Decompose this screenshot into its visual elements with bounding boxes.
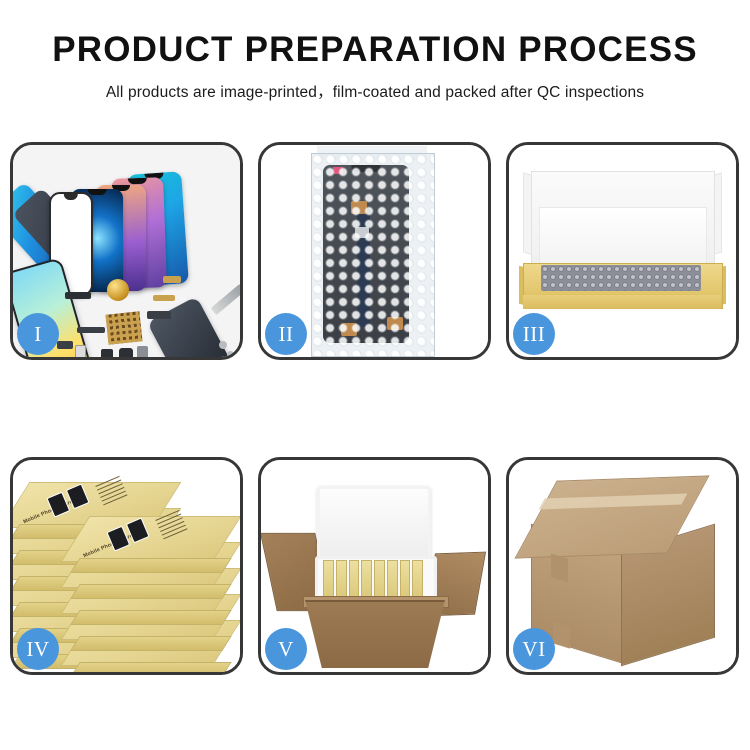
process-step-2: II [258,142,491,360]
screw-icon [219,341,227,349]
tweezers-icon [211,284,240,315]
part-icon [75,345,86,357]
qc-sticker-icon [333,167,343,174]
carton-body-icon [305,600,445,668]
screw-icon [227,351,234,357]
speaker-coil-icon [107,279,129,301]
carton-tab-icon [553,621,570,648]
page-title: PRODUCT PREPARATION PROCESS [0,32,750,69]
ic-chip-icon [355,227,369,238]
step-badge-3: III [513,313,555,355]
foam-sheet-icon [539,207,707,269]
part-icon [119,348,133,357]
part-icon [65,292,91,299]
header: PRODUCT PREPARATION PROCESS All products… [0,0,750,102]
box-tray-front-icon [523,295,721,309]
part-icon [77,327,105,333]
page-subtitle: All products are image-printed，film-coat… [0,80,750,102]
part-icon [147,311,171,319]
process-step-1: I [10,142,243,360]
step-badge-4: IV [17,628,59,670]
part-icon [153,295,175,301]
process-step-3: III [506,142,739,360]
process-step-6: VI [506,457,739,675]
carton-tab-icon [551,553,568,582]
process-step-4: Mobile Phone Spare Parts Mobile Phone Sp… [10,457,243,675]
part-icon [101,349,113,357]
flex-cable-icon [357,207,370,327]
part-icon [163,276,181,283]
step-badge-6: VI [513,628,555,670]
process-step-5: V [258,457,491,675]
step-badge-2: II [265,313,307,355]
process-grid: I II [10,142,740,675]
part-icon [57,341,73,349]
connector-pad-icon [387,317,403,330]
step-badge-5: V [265,628,307,670]
connector-pad-icon [351,201,367,214]
connector-pad-icon [341,323,357,336]
step-badge-1: I [17,313,59,355]
bubble-wrapped-content-icon [541,265,701,291]
screw-tray-icon [106,311,143,344]
part-icon [137,346,148,357]
